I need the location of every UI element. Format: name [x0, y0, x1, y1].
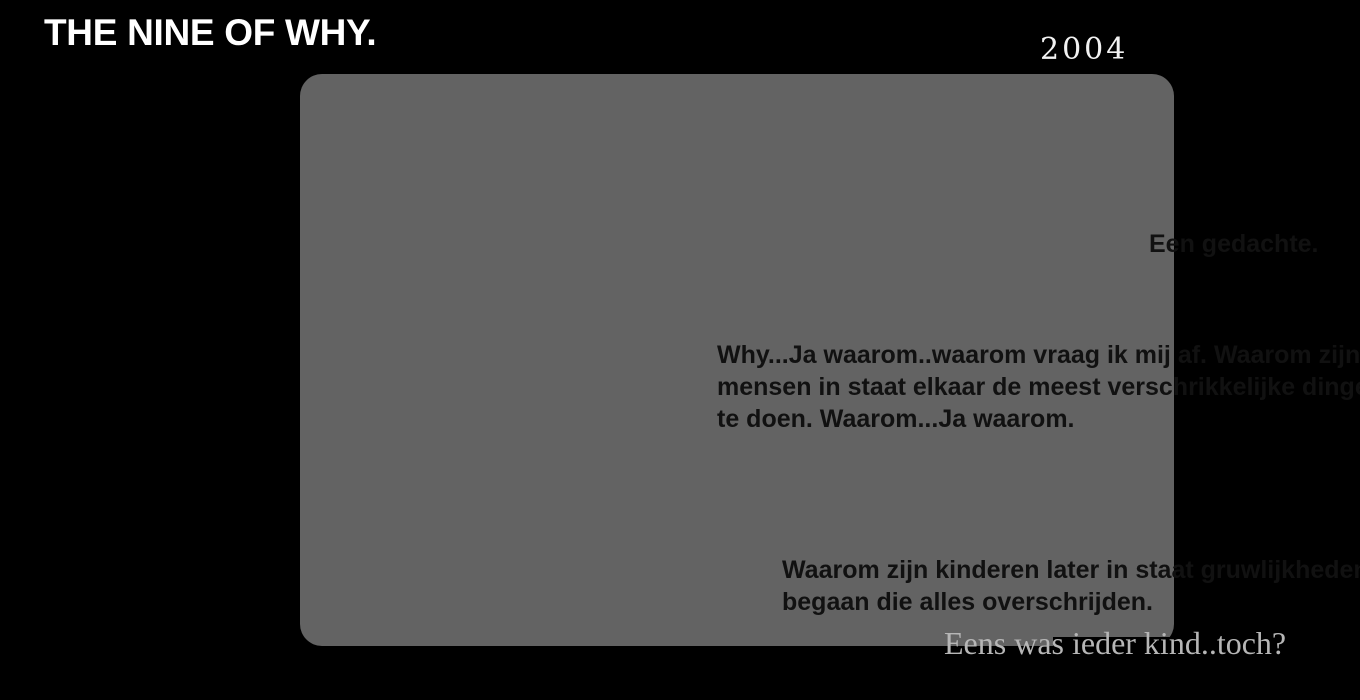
- content-card: Een gedachte. Why...Ja waarom..waarom vr…: [300, 74, 1174, 646]
- footer-caption: Eens was ieder kind..toch?: [944, 623, 1286, 663]
- card-heading: Een gedachte.: [1149, 228, 1319, 260]
- card-paragraph-secondary: Waarom zijn kinderen later in staat gruw…: [782, 554, 1360, 618]
- year-label: 2004: [1040, 32, 1128, 68]
- card-paragraph-primary: Why...Ja waarom..waarom vraag ik mij af.…: [717, 339, 1360, 435]
- page-title: THE NINE OF WHY.: [44, 11, 376, 55]
- slide-canvas: THE NINE OF WHY. 2004 Een gedachte. Why.…: [0, 0, 1360, 700]
